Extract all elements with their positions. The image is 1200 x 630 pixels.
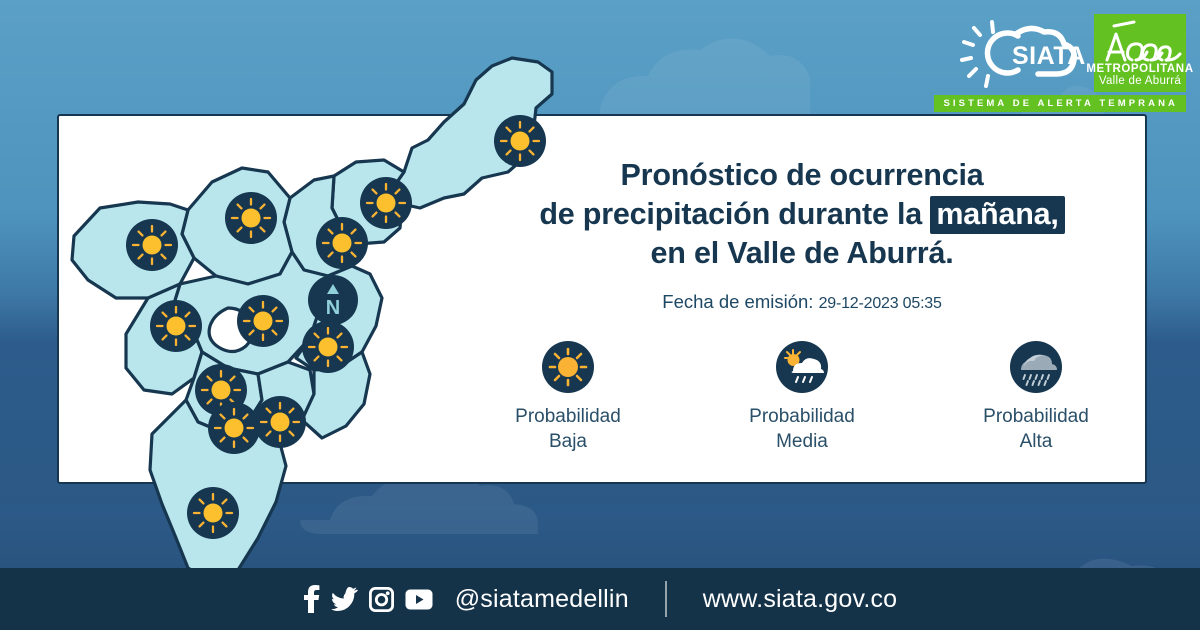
sun-disc	[143, 236, 162, 255]
sun-disc	[377, 194, 396, 213]
sun-cloud-rain-icon	[776, 341, 828, 393]
compass-north-icon: N	[308, 275, 358, 325]
sun-disc	[333, 234, 352, 253]
area-line2: Valle de Aburrá	[1099, 75, 1181, 88]
twitter-icon[interactable]	[331, 587, 358, 611]
footer-inner: @siatamedellin www.siata.gov.co	[303, 581, 898, 617]
marker-copacabana	[316, 217, 368, 269]
poster-root: SIATA METROPOLITANA Valle de Aburrá	[0, 0, 1200, 630]
emission-value: 29-12-2023 05:35	[819, 295, 942, 312]
sun-disc	[167, 317, 186, 336]
probability-legend: Probabilidad Baja	[493, 341, 1111, 454]
legend-media-line2: Media	[749, 429, 855, 454]
social-links	[303, 585, 433, 613]
title-line-1: Pronóstico de ocurrencia	[539, 156, 1064, 195]
title-line-3: en el Valle de Aburrá.	[539, 234, 1064, 273]
legend-media-line1: Probabilidad	[749, 404, 855, 429]
footer-bar: @siatamedellin www.siata.gov.co	[0, 568, 1200, 630]
facebook-icon[interactable]	[303, 585, 320, 613]
legend-baja-line1: Probabilidad	[515, 404, 621, 429]
title-line-2-pre: de precipitación durante la	[539, 197, 930, 231]
sun-disc	[319, 338, 338, 357]
sun-disc	[242, 209, 261, 228]
legend-label-media: Probabilidad Media	[749, 404, 855, 454]
logo-group: SIATA METROPOLITANA Valle de Aburrá	[934, 14, 1186, 112]
marker-girardota	[360, 177, 412, 229]
marker-sabaneta	[208, 402, 260, 454]
marker-san-pedro	[126, 219, 178, 271]
social-handle[interactable]: @siatamedellin	[455, 585, 629, 614]
marker-bello	[225, 192, 277, 244]
siata-sun-cloud-icon: SIATA	[956, 14, 1086, 88]
instagram-icon[interactable]	[369, 587, 394, 612]
area-script-icon	[1094, 16, 1186, 68]
marker-medellin	[237, 295, 289, 347]
marker-caldas	[187, 487, 239, 539]
marker-itagui	[150, 300, 202, 352]
page-title: Pronóstico de ocurrencia de precipitació…	[539, 156, 1064, 273]
siata-logo: SIATA	[956, 14, 1086, 88]
siata-wordmark: SIATA	[1012, 42, 1086, 70]
sun-disc	[225, 419, 244, 438]
marker-guarne	[302, 321, 354, 373]
title-highlight: mañana,	[930, 196, 1064, 234]
sun-icon	[542, 341, 594, 393]
forecast-content: Pronóstico de ocurrencia de precipitació…	[462, 118, 1142, 476]
emission-date: Fecha de emisión: 29-12-2023 05:35	[662, 291, 941, 313]
marker-envigado	[254, 396, 306, 448]
footer-divider	[665, 581, 667, 617]
siata-tagline: SISTEMA DE ALERTA TEMPRANA	[934, 95, 1186, 112]
sun-disc	[212, 381, 231, 400]
legend-item-alta: Probabilidad Alta	[961, 341, 1111, 454]
title-line-2: de precipitación durante la mañana,	[539, 195, 1064, 234]
sun-disc	[254, 312, 273, 331]
legend-item-baja: Probabilidad Baja	[493, 341, 643, 454]
legend-baja-line2: Baja	[515, 429, 621, 454]
legend-label-alta: Probabilidad Alta	[983, 404, 1089, 454]
emission-label: Fecha de emisión:	[662, 291, 813, 312]
legend-alta-line2: Alta	[983, 429, 1089, 454]
area-metropolitana-logo: METROPOLITANA Valle de Aburrá	[1094, 14, 1186, 92]
website-url[interactable]: www.siata.gov.co	[703, 585, 897, 614]
youtube-icon[interactable]	[405, 589, 433, 610]
legend-alta-line1: Probabilidad	[983, 404, 1089, 429]
compass-label: N	[326, 297, 340, 319]
sun-disc	[271, 413, 290, 432]
legend-label-baja: Probabilidad Baja	[515, 404, 621, 454]
rain-cloud-icon	[1010, 341, 1062, 393]
sun-disc	[204, 504, 223, 523]
logo-row: SIATA METROPOLITANA Valle de Aburrá	[956, 14, 1186, 92]
legend-item-media: Probabilidad Media	[727, 341, 877, 454]
